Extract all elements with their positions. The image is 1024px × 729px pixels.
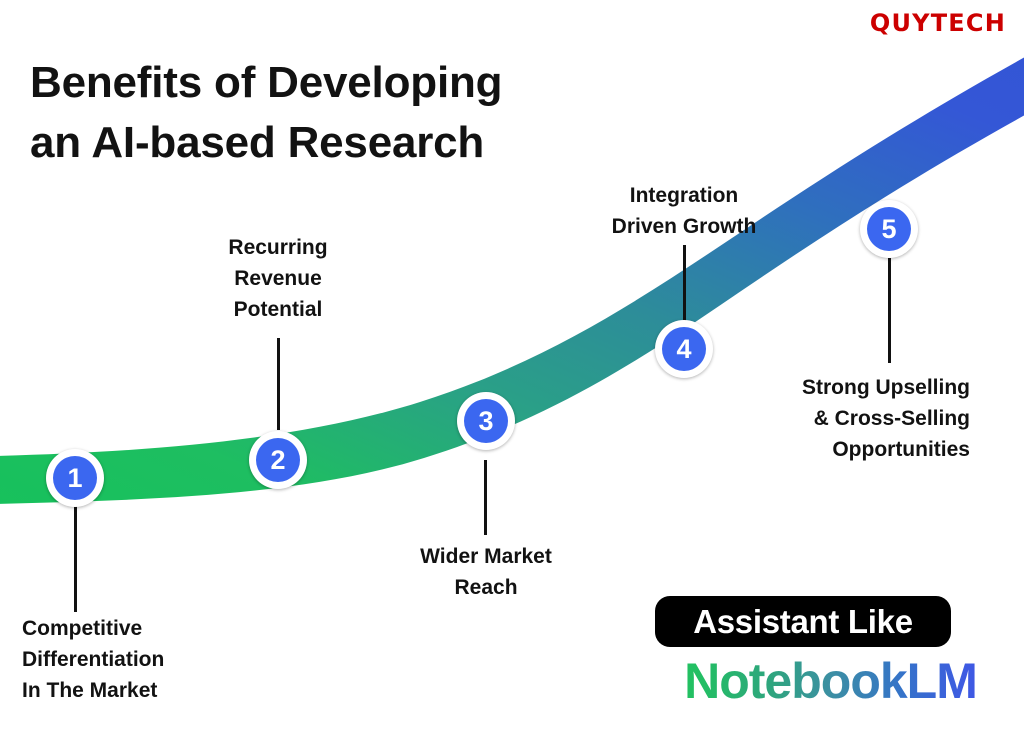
- assistant-like-badge: Assistant Like: [655, 596, 951, 647]
- notebooklm-wordmark: NotebookLM: [653, 653, 1008, 709]
- milestone-3-number: 3: [478, 408, 493, 435]
- milestone-3-marker[interactable]: 3: [457, 392, 515, 450]
- milestone-1-connector: [74, 506, 77, 612]
- milestone-4-disc: 4: [662, 327, 706, 371]
- quytech-logo: QUYTECH: [870, 11, 1006, 35]
- milestone-2-number: 2: [270, 447, 285, 474]
- assistant-like-label: Assistant Like: [693, 605, 913, 638]
- milestone-2-marker[interactable]: 2: [249, 431, 307, 489]
- milestone-1-marker[interactable]: 1: [46, 449, 104, 507]
- milestone-2-label: Recurring Revenue Potential: [148, 232, 408, 325]
- milestone-1-disc: 1: [53, 456, 97, 500]
- milestone-4-marker[interactable]: 4: [655, 320, 713, 378]
- milestone-1-number: 1: [67, 465, 82, 492]
- infographic-canvas: QUYTECH Benefits of Developing an AI-bas…: [0, 0, 1024, 729]
- milestone-4-label: Integration Driven Growth: [554, 180, 814, 242]
- milestone-4-connector: [683, 245, 686, 323]
- page-title: Benefits of Developing an AI-based Resea…: [30, 53, 670, 172]
- milestone-5-disc: 5: [867, 207, 911, 251]
- milestone-5-number: 5: [881, 216, 896, 243]
- milestone-5-marker[interactable]: 5: [860, 200, 918, 258]
- milestone-4-number: 4: [676, 336, 691, 363]
- milestone-5-connector: [888, 258, 891, 363]
- milestone-2-connector: [277, 338, 280, 430]
- milestone-5-label: Strong Upselling & Cross-Selling Opportu…: [710, 372, 970, 465]
- milestone-2-disc: 2: [256, 438, 300, 482]
- milestone-1-label: Competitive Differentiation In The Marke…: [22, 613, 282, 706]
- milestone-3-disc: 3: [464, 399, 508, 443]
- milestone-3-label: Wider Market Reach: [356, 541, 616, 603]
- milestone-3-connector: [484, 460, 487, 535]
